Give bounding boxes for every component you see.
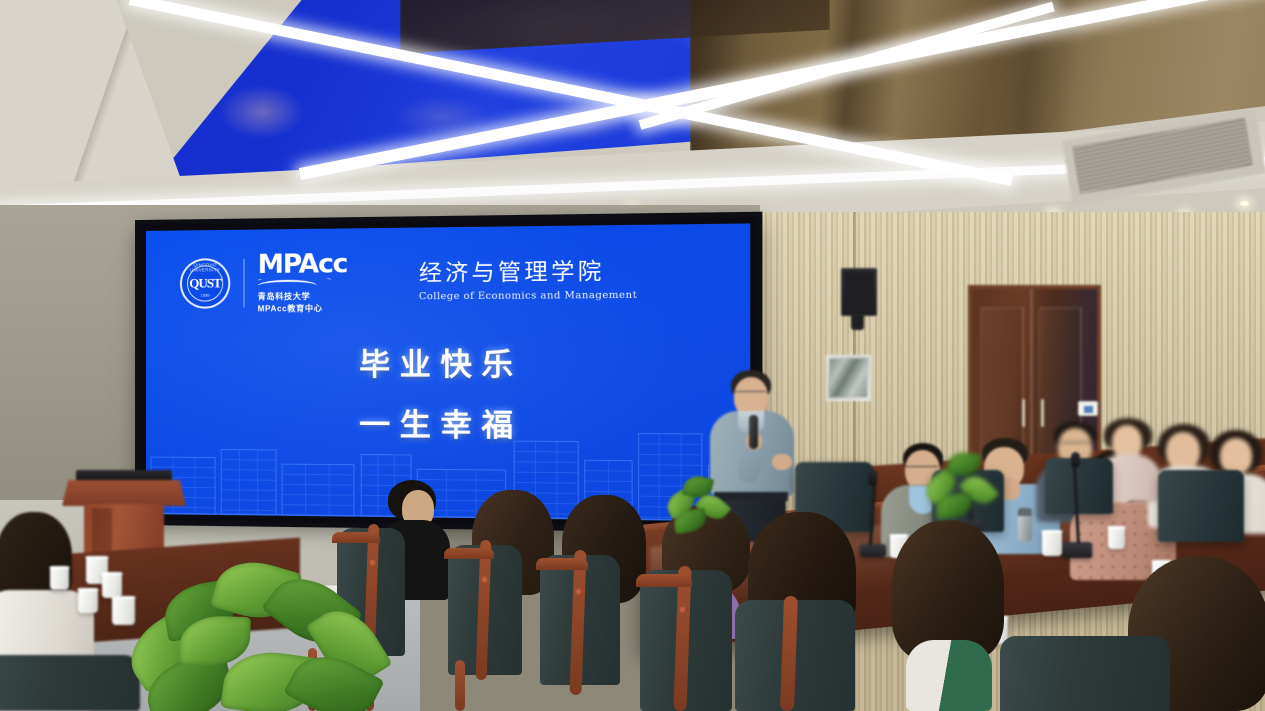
attendee-hair	[892, 520, 1004, 660]
mic-capsule-icon	[1071, 452, 1080, 468]
audience-chair[interactable]	[1000, 636, 1170, 711]
mic-capsule-icon	[868, 470, 877, 486]
chair-stud	[481, 576, 488, 583]
handheld-microphone-icon[interactable]	[749, 415, 758, 449]
chair-leg	[455, 660, 465, 711]
chair-stud	[679, 606, 686, 613]
paper-cup[interactable]	[78, 588, 98, 613]
attendee-head	[1220, 438, 1252, 474]
attendee-head	[1166, 432, 1200, 470]
slide-message: 毕业快乐 一生幸福	[146, 350, 750, 444]
seal-year: 1950	[182, 292, 228, 297]
mpacc-wave-icon	[258, 278, 332, 288]
potted-plant	[660, 470, 730, 540]
mpacc-wordmark: MPAcc	[258, 251, 348, 278]
chair-frame-top	[636, 574, 692, 587]
thermos-flask[interactable]	[1018, 508, 1032, 542]
chair-frame-top	[444, 548, 494, 559]
slide-line-1: 毕业快乐	[146, 350, 750, 382]
foreground-plant	[120, 556, 390, 711]
chair-frame-top	[332, 532, 380, 543]
paper-cup[interactable]	[1042, 530, 1062, 556]
mpacc-logo: MPAcc 青岛科技大学 MPAcc教育中心	[258, 251, 348, 315]
mpacc-sub-line-2: MPAcc教育中心	[258, 302, 348, 314]
mic-base	[1062, 542, 1092, 558]
attendee-top	[906, 640, 992, 711]
conference-room-photo: QINGDAO UNIVERSITY QUST 1950 MPAcc 青岛科技大…	[0, 0, 1265, 711]
glasses-icon	[735, 391, 767, 397]
speaker-mount-bracket	[851, 314, 864, 330]
paper-cup[interactable]	[102, 572, 122, 598]
executive-chair[interactable]	[1158, 470, 1244, 542]
mic-stem	[869, 482, 876, 546]
foreground-attendee	[880, 520, 1015, 711]
department-name-en: College of Economics and Management	[419, 289, 637, 302]
qust-university-seal: QINGDAO UNIVERSITY QUST 1950	[180, 258, 230, 309]
mic-stem	[1073, 466, 1080, 544]
door-handle[interactable]	[1022, 399, 1025, 427]
mpacc-sub-line-1: 青岛科技大学	[258, 291, 348, 303]
paper-cup[interactable]	[1108, 526, 1125, 549]
wall-speaker-icon	[841, 268, 877, 316]
department-title: 经济与管理学院 College of Economics and Managem…	[419, 260, 637, 302]
slide-header: QINGDAO UNIVERSITY QUST 1950 MPAcc 青岛科技大…	[180, 247, 730, 315]
potted-plant	[920, 448, 998, 526]
lectern-top	[62, 480, 186, 506]
downlight-icon	[1240, 201, 1249, 206]
paper-cup[interactable]	[50, 566, 69, 590]
wall-thermostat[interactable]	[1078, 401, 1098, 416]
header-divider	[243, 259, 244, 307]
seal-ring-text-top: QINGDAO UNIVERSITY	[182, 262, 228, 272]
seal-letters: QUST	[182, 275, 228, 291]
chair-frame-top	[536, 558, 588, 570]
audience-chair[interactable]	[0, 655, 140, 711]
chair-stud	[575, 588, 582, 595]
ceiling	[0, 0, 1265, 232]
gooseneck-microphone[interactable]	[1062, 452, 1092, 562]
slide-line-2: 一生幸福	[146, 410, 750, 444]
fire-equipment-cabinet[interactable]	[826, 355, 871, 401]
department-name-cn: 经济与管理学院	[419, 260, 637, 288]
glasses-icon	[1057, 442, 1091, 448]
presenter-hand-right	[772, 454, 792, 470]
